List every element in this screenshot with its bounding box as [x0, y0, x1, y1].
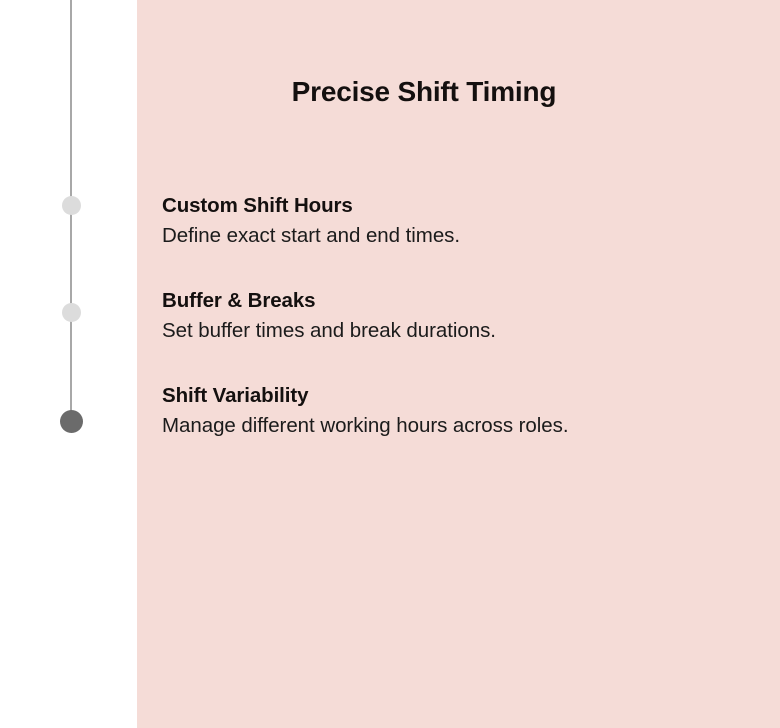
list-item: Shift Variability Manage different worki…: [162, 382, 762, 441]
feature-title-custom-shift-hours: Custom Shift Hours: [162, 192, 762, 220]
feature-description-buffer-breaks: Set buffer times and break durations.: [162, 315, 762, 346]
feature-title-buffer-breaks: Buffer & Breaks: [162, 287, 762, 315]
feature-title-shift-variability: Shift Variability: [162, 382, 762, 410]
list-item: Buffer & Breaks Set buffer times and bre…: [162, 287, 762, 346]
feature-description-custom-shift-hours: Define exact start and end times.: [162, 220, 762, 251]
feature-description-shift-variability: Manage different working hours across ro…: [162, 410, 762, 441]
page-title: Precise Shift Timing: [137, 72, 711, 112]
list-item: Custom Shift Hours Define exact start an…: [162, 192, 762, 251]
progress-timeline: [0, 0, 137, 656]
slide-canvas: Precise Shift Timing Custom Shift Hours …: [0, 0, 780, 728]
timeline-dot-custom-shift-hours[interactable]: [62, 196, 81, 215]
feature-list: Custom Shift Hours Define exact start an…: [162, 192, 762, 441]
content-area: Precise Shift Timing Custom Shift Hours …: [137, 0, 780, 728]
timeline-dot-buffer-breaks[interactable]: [62, 303, 81, 322]
timeline-dot-shift-variability[interactable]: [60, 410, 83, 433]
